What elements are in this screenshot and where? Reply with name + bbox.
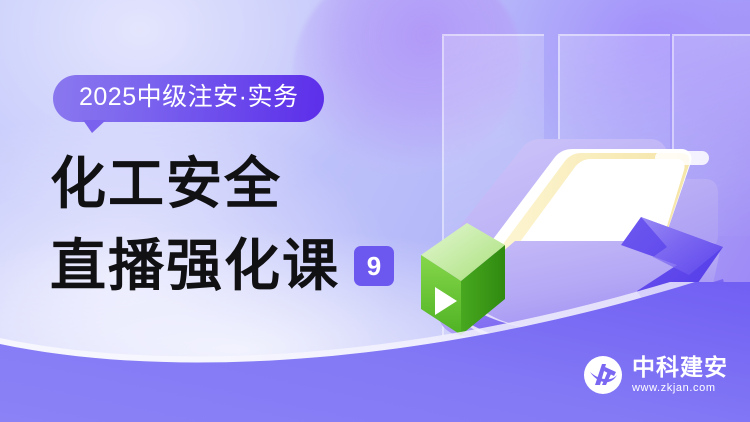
headline-line-1: 化工安全 xyxy=(50,150,520,218)
brand-name: 中科建安 xyxy=(632,355,728,380)
course-promo-banner: 2025中级注安·实务 化工安全 直播强化课 9 中科建安 www.zkjan.… xyxy=(0,0,750,422)
background-panel-right xyxy=(672,34,750,236)
brand-url: www.zkjan.com xyxy=(632,380,728,397)
episode-badge: 9 xyxy=(354,246,394,286)
headline-line-2: 直播强化课 9 xyxy=(50,232,520,300)
headline-block: 化工安全 直播强化课 9 xyxy=(50,150,520,300)
headline-line-2-text: 直播强化课 xyxy=(50,232,340,300)
course-tag-label: 2025中级注安·实务 xyxy=(79,83,298,111)
brand-logo-text: 中科建安 www.zkjan.com xyxy=(632,355,728,396)
course-tag-pill: 2025中级注安·实务 xyxy=(53,75,324,122)
zkjan-circle-logo-icon xyxy=(583,355,623,395)
headline-line-1-text: 化工安全 xyxy=(50,151,282,217)
course-tag-tail xyxy=(83,120,106,133)
brand-logo[interactable]: 中科建安 www.zkjan.com xyxy=(583,355,728,396)
course-tag: 2025中级注安·实务 xyxy=(53,75,324,122)
bottom-curved-band xyxy=(0,282,750,422)
background-panel-middle xyxy=(558,34,670,266)
